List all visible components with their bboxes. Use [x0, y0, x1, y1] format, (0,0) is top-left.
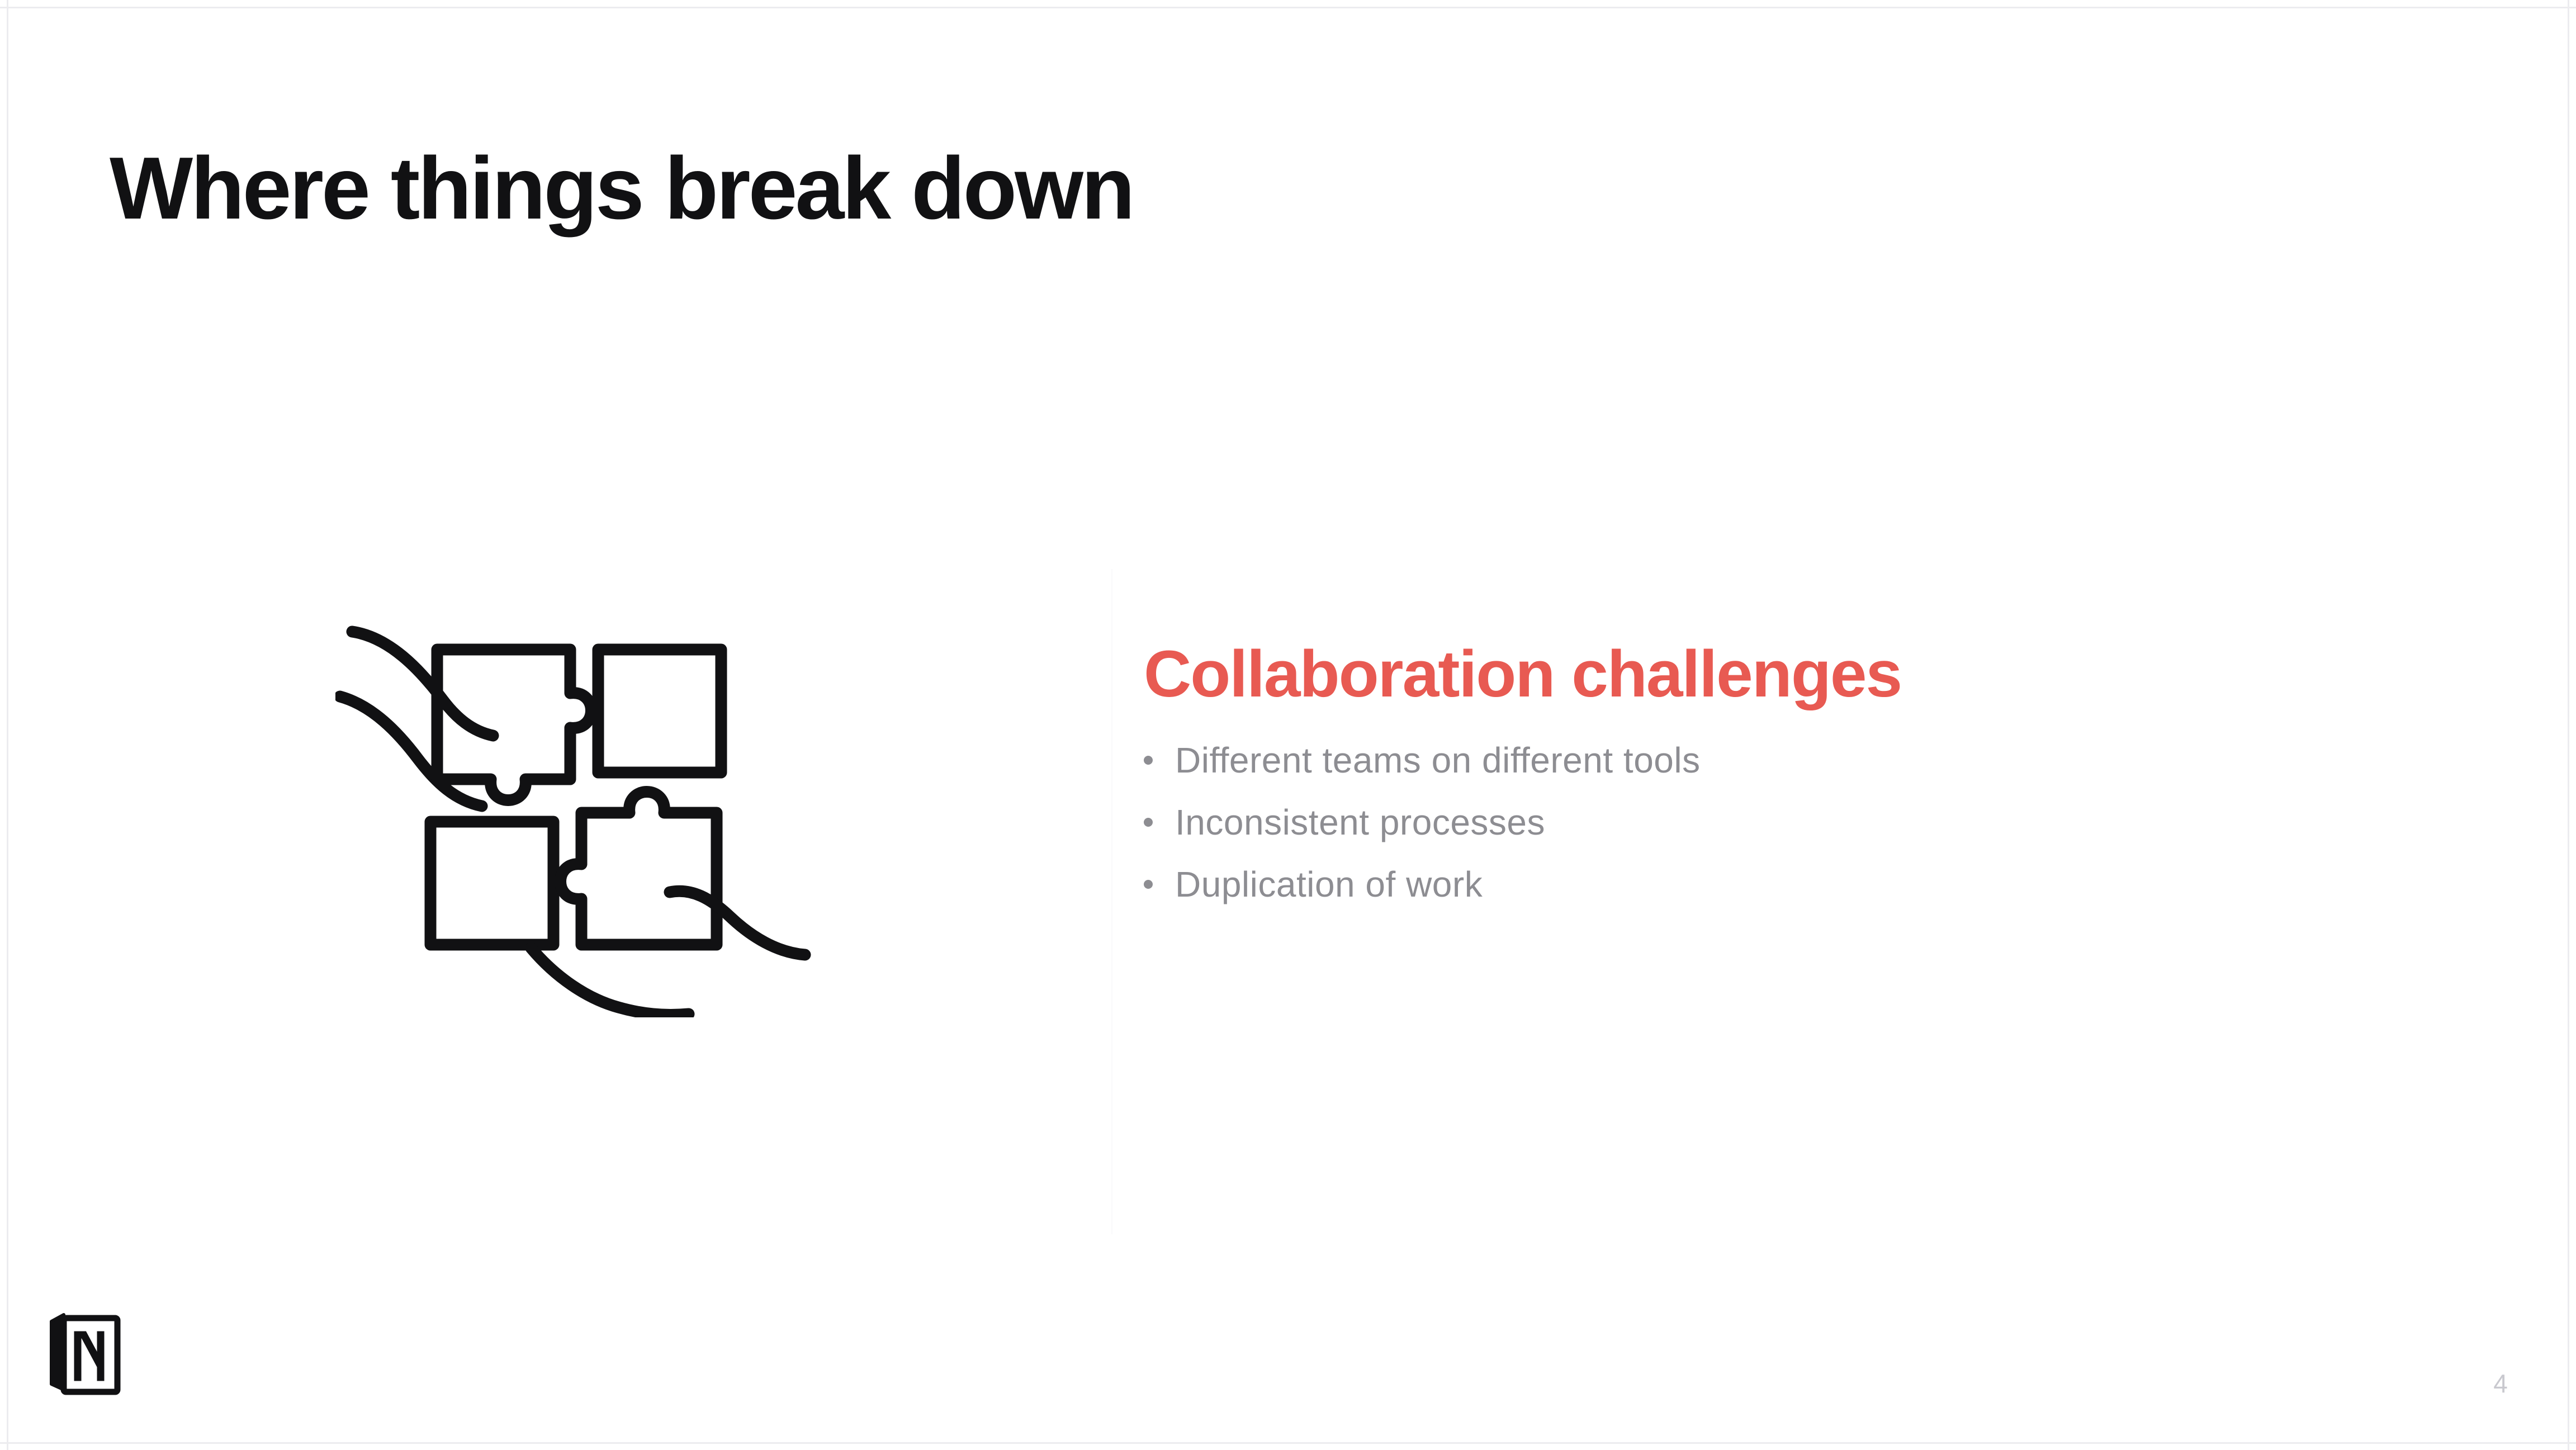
- slide-frame-right-border: [2568, 0, 2569, 1450]
- hand-lower-right-lower-finger-path: [531, 948, 689, 1015]
- notion-logo-icon: [49, 1312, 121, 1396]
- slide-frame-top-border: [0, 7, 2576, 8]
- notion-logo-svg: [49, 1312, 121, 1396]
- list-item: Duplication of work: [1144, 864, 2430, 905]
- puzzle-square-top-right: [598, 650, 721, 773]
- list-item: Inconsistent processes: [1144, 802, 2430, 843]
- list-item: Different teams on different tools: [1144, 740, 2430, 781]
- page-number: 4: [2481, 1371, 2520, 1396]
- puzzle-piece-bottom-right: [561, 792, 717, 945]
- bullet-list: Different teams on different tools Incon…: [1144, 740, 2430, 905]
- puzzle-pieces-hands-icon: [335, 553, 816, 1017]
- slide-canvas: Where things break down Collaboration ch…: [0, 0, 2576, 1450]
- content-subhead: Collaboration challenges: [1144, 637, 2430, 711]
- bullet-dot-icon: [1144, 880, 1153, 889]
- bullet-label: Different teams on different tools: [1175, 740, 1701, 781]
- puzzle-square-bottom-left: [430, 822, 553, 945]
- slide-frame-left-border: [7, 0, 8, 1450]
- bullet-dot-icon: [1144, 756, 1153, 765]
- slide-title: Where things break down: [110, 144, 1133, 233]
- bullet-label: Duplication of work: [1175, 864, 1483, 905]
- slide-frame-bottom-border: [0, 1442, 2576, 1444]
- content-panel-divider: [1111, 569, 1112, 1234]
- bullet-label: Inconsistent processes: [1175, 802, 1545, 843]
- content-panel: Collaboration challenges Different teams…: [1144, 637, 2430, 905]
- puzzle-illustration-svg: [335, 553, 816, 1017]
- bullet-dot-icon: [1144, 818, 1153, 827]
